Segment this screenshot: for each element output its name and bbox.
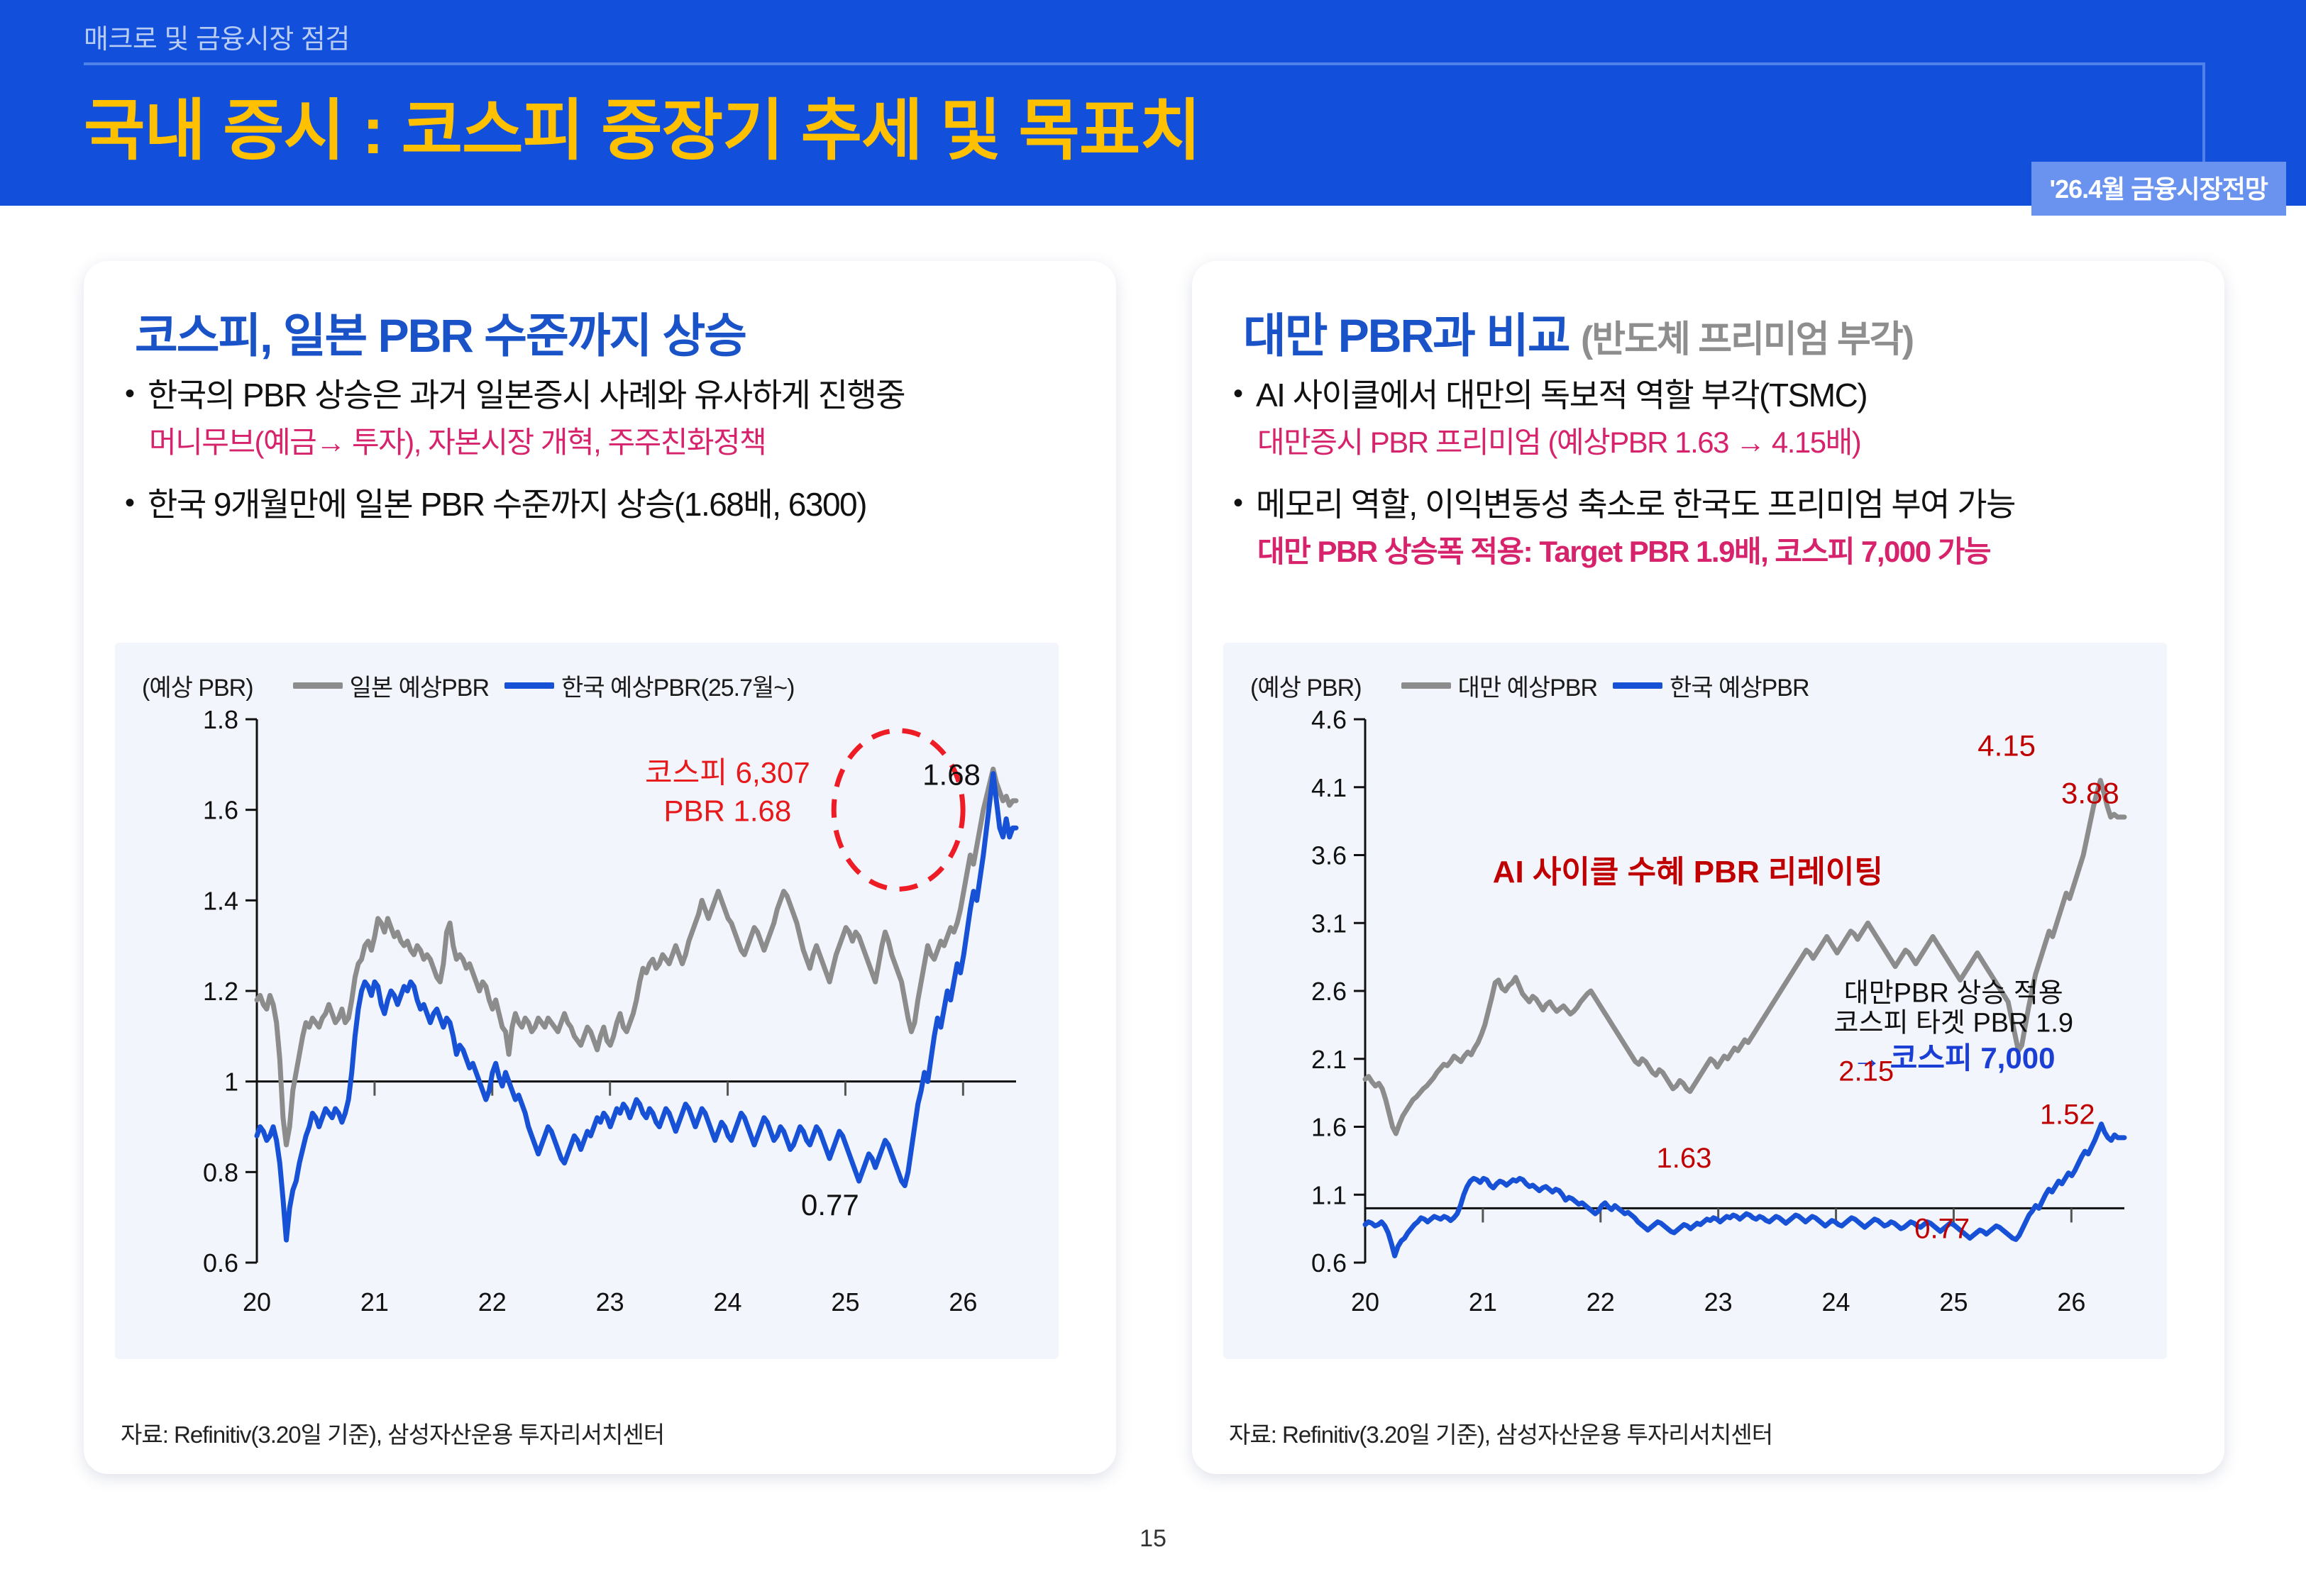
bullet-subtext: 대만 PBR 상승폭 적용: Target PBR 1.9배, 코스피 7,00…: [1257, 531, 2191, 573]
bullet-dot-icon: •: [1233, 373, 1256, 414]
legend-swatch-icon: [1613, 682, 1662, 689]
right-panel-source: 자료: Refinitiv(3.20일 기준), 삼성자산운용 투자리서치센터: [1229, 1416, 1772, 1450]
right-chart-axis-unit: (예상 PBR): [1250, 668, 1362, 703]
svg-text:20: 20: [1351, 1287, 1379, 1317]
svg-text:22: 22: [1587, 1287, 1615, 1317]
svg-text:0.8: 0.8: [203, 1158, 238, 1187]
svg-text:1.2: 1.2: [203, 977, 238, 1006]
bullet-text: AI 사이클에서 대만의 독보적 역할 부각(TSMC): [1256, 373, 1867, 417]
date-badge: '26.4월 금융시장전망: [2031, 162, 2286, 216]
svg-text:대만PBR 상승 적용: 대만PBR 상승 적용: [1844, 978, 2063, 1008]
svg-text:0.77: 0.77: [801, 1188, 859, 1221]
svg-text:2.6: 2.6: [1311, 977, 1347, 1006]
svg-text:1.63: 1.63: [1656, 1143, 1711, 1174]
right-chart-container: (예상 PBR) 대만 예상PBR 한국 예상PBR 0.61.11.62.12…: [1223, 643, 2167, 1359]
page-number: 15: [0, 1525, 2306, 1553]
legend-swatch-icon: [1401, 682, 1451, 689]
list-item: • 한국 9개월만에 일본 PBR 수준까지 상승(1.68배, 6300): [125, 482, 1083, 526]
svg-text:23: 23: [1704, 1287, 1733, 1317]
slide-root: 매크로 및 금융시장 점검 국내 증시 : 코스피 중장기 추세 및 목표치 '…: [0, 0, 2306, 1596]
left-chart-svg: 0.60.811.21.41.61.820212223242526코스피 6,3…: [115, 702, 1059, 1341]
legend-label: 한국 예상PBR: [1670, 668, 1809, 703]
page-title: 국내 증시 : 코스피 중장기 추세 및 목표치: [84, 77, 1201, 173]
right-panel-title-sub: (반도체 프리미엄 부각): [1581, 319, 1913, 360]
bullet-text: 한국 9개월만에 일본 PBR 수준까지 상승(1.68배, 6300): [148, 482, 866, 526]
svg-text:1.6: 1.6: [203, 796, 238, 825]
list-item: • 한국의 PBR 상승은 과거 일본증시 사례와 유사하게 진행중: [125, 373, 1083, 417]
svg-text:0.6: 0.6: [1311, 1248, 1347, 1278]
svg-text:26: 26: [949, 1287, 977, 1317]
right-chart-legend: (예상 PBR) 대만 예상PBR 한국 예상PBR: [1250, 668, 1809, 703]
right-panel-title: 대만 PBR과 비교 (반도체 프리미엄 부각): [1243, 298, 1913, 366]
svg-text:26: 26: [2057, 1287, 2085, 1317]
svg-text:1.4: 1.4: [203, 886, 238, 915]
svg-text:2.15: 2.15: [1838, 1055, 1894, 1087]
bullet-subtext: 머니무브(예금→ 투자), 자본시장 개혁, 주주친화정책: [149, 421, 1083, 464]
svg-text:24: 24: [714, 1287, 742, 1317]
bullet-dot-icon: •: [1233, 482, 1256, 523]
svg-text:1: 1: [224, 1068, 238, 1097]
svg-text:3.6: 3.6: [1311, 841, 1347, 870]
svg-text:3.1: 3.1: [1311, 909, 1347, 938]
svg-text:20: 20: [243, 1287, 271, 1317]
right-panel: 대만 PBR과 비교 (반도체 프리미엄 부각) • AI 사이클에서 대만의 …: [1192, 261, 2224, 1474]
right-panel-bullets: • AI 사이클에서 대만의 독보적 역할 부각(TSMC) 대만증시 PBR …: [1233, 373, 2191, 592]
svg-text:코스피 타겟 PBR 1.9: 코스피 타겟 PBR 1.9: [1834, 1008, 2073, 1038]
svg-text:4.6: 4.6: [1311, 705, 1347, 734]
legend-label: 한국 예상PBR(25.7월~): [561, 668, 794, 703]
svg-text:1.8: 1.8: [203, 705, 238, 734]
slide-header: 매크로 및 금융시장 점검 국내 증시 : 코스피 중장기 추세 및 목표치 '…: [0, 0, 2306, 206]
svg-text:21: 21: [1469, 1287, 1497, 1317]
svg-text:0.77: 0.77: [1914, 1214, 1970, 1245]
header-eyebrow: 매크로 및 금융시장 점검: [84, 17, 350, 56]
svg-text:1.1: 1.1: [1311, 1180, 1347, 1209]
svg-text:0.6: 0.6: [203, 1248, 238, 1278]
right-chart-svg: 0.61.11.62.12.63.13.64.14.62021222324252…: [1223, 702, 2167, 1341]
svg-text:21: 21: [360, 1287, 389, 1317]
left-panel-source: 자료: Refinitiv(3.20일 기준), 삼성자산운용 투자리서치센터: [121, 1416, 664, 1450]
svg-text:2.1: 2.1: [1311, 1045, 1347, 1074]
svg-text:25: 25: [1939, 1287, 1968, 1317]
legend-swatch-icon: [504, 682, 554, 689]
legend-item-taiwan: 대만 예상PBR: [1401, 668, 1597, 703]
svg-text:23: 23: [596, 1287, 624, 1317]
svg-text:22: 22: [478, 1287, 507, 1317]
legend-swatch-icon: [293, 682, 343, 689]
legend-item-japan: 일본 예상PBR: [293, 668, 489, 703]
legend-item-korea: 한국 예상PBR: [1613, 668, 1809, 703]
svg-text:24: 24: [1822, 1287, 1850, 1317]
bullet-dot-icon: •: [125, 482, 148, 523]
left-panel-title: 코스피, 일본 PBR 수준까지 상승: [135, 298, 746, 366]
svg-text:1.52: 1.52: [2040, 1099, 2095, 1131]
svg-text:3.88: 3.88: [2061, 777, 2119, 810]
list-item: • 메모리 역할, 이익변동성 축소로 한국도 프리미엄 부여 가능: [1233, 482, 2191, 526]
bullet-subtext: 대만증시 PBR 프리미엄 (예상PBR 1.63 → 4.15배): [1257, 421, 2191, 464]
right-panel-title-main: 대만 PBR과 비교: [1243, 309, 1569, 362]
svg-text:4.15: 4.15: [1977, 729, 2036, 763]
left-chart-axis-unit: (예상 PBR): [142, 668, 253, 703]
svg-text:PBR 1.68: PBR 1.68: [664, 794, 792, 828]
svg-text:1.68: 1.68: [922, 758, 981, 792]
left-chart-plot: 0.60.811.21.41.61.820212223242526코스피 6,3…: [115, 702, 1059, 1341]
legend-label: 대만 예상PBR: [1458, 668, 1597, 703]
left-chart-legend: (예상 PBR) 일본 예상PBR 한국 예상PBR(25.7월~): [142, 668, 794, 703]
header-divider: [84, 62, 2205, 65]
left-chart-container: (예상 PBR) 일본 예상PBR 한국 예상PBR(25.7월~) 0.60.…: [115, 643, 1059, 1359]
svg-text:4.1: 4.1: [1311, 773, 1347, 802]
legend-item-korea: 한국 예상PBR(25.7월~): [504, 668, 794, 703]
svg-text:25: 25: [831, 1287, 859, 1317]
left-panel: 코스피, 일본 PBR 수준까지 상승 • 한국의 PBR 상승은 과거 일본증…: [84, 261, 1116, 1474]
header-vertical-divider: [2202, 62, 2205, 176]
legend-label: 일본 예상PBR: [350, 668, 489, 703]
svg-text:코스피 6,307: 코스피 6,307: [645, 755, 810, 789]
list-item: • AI 사이클에서 대만의 독보적 역할 부각(TSMC): [1233, 373, 2191, 417]
bullet-dot-icon: •: [125, 373, 148, 414]
svg-text:1.6: 1.6: [1311, 1113, 1347, 1142]
bullet-text: 메모리 역할, 이익변동성 축소로 한국도 프리미엄 부여 가능: [1256, 482, 2015, 526]
svg-text:AI 사이클 수혜 PBR 리레이팅: AI 사이클 수혜 PBR 리레이팅: [1493, 855, 1883, 890]
bullet-text: 한국의 PBR 상승은 과거 일본증시 사례와 유사하게 진행중: [148, 373, 905, 417]
right-chart-plot: 0.61.11.62.12.63.13.64.14.62021222324252…: [1223, 702, 2167, 1341]
left-panel-bullets: • 한국의 PBR 상승은 과거 일본증시 사례와 유사하게 진행중 머니무브(…: [125, 373, 1083, 531]
